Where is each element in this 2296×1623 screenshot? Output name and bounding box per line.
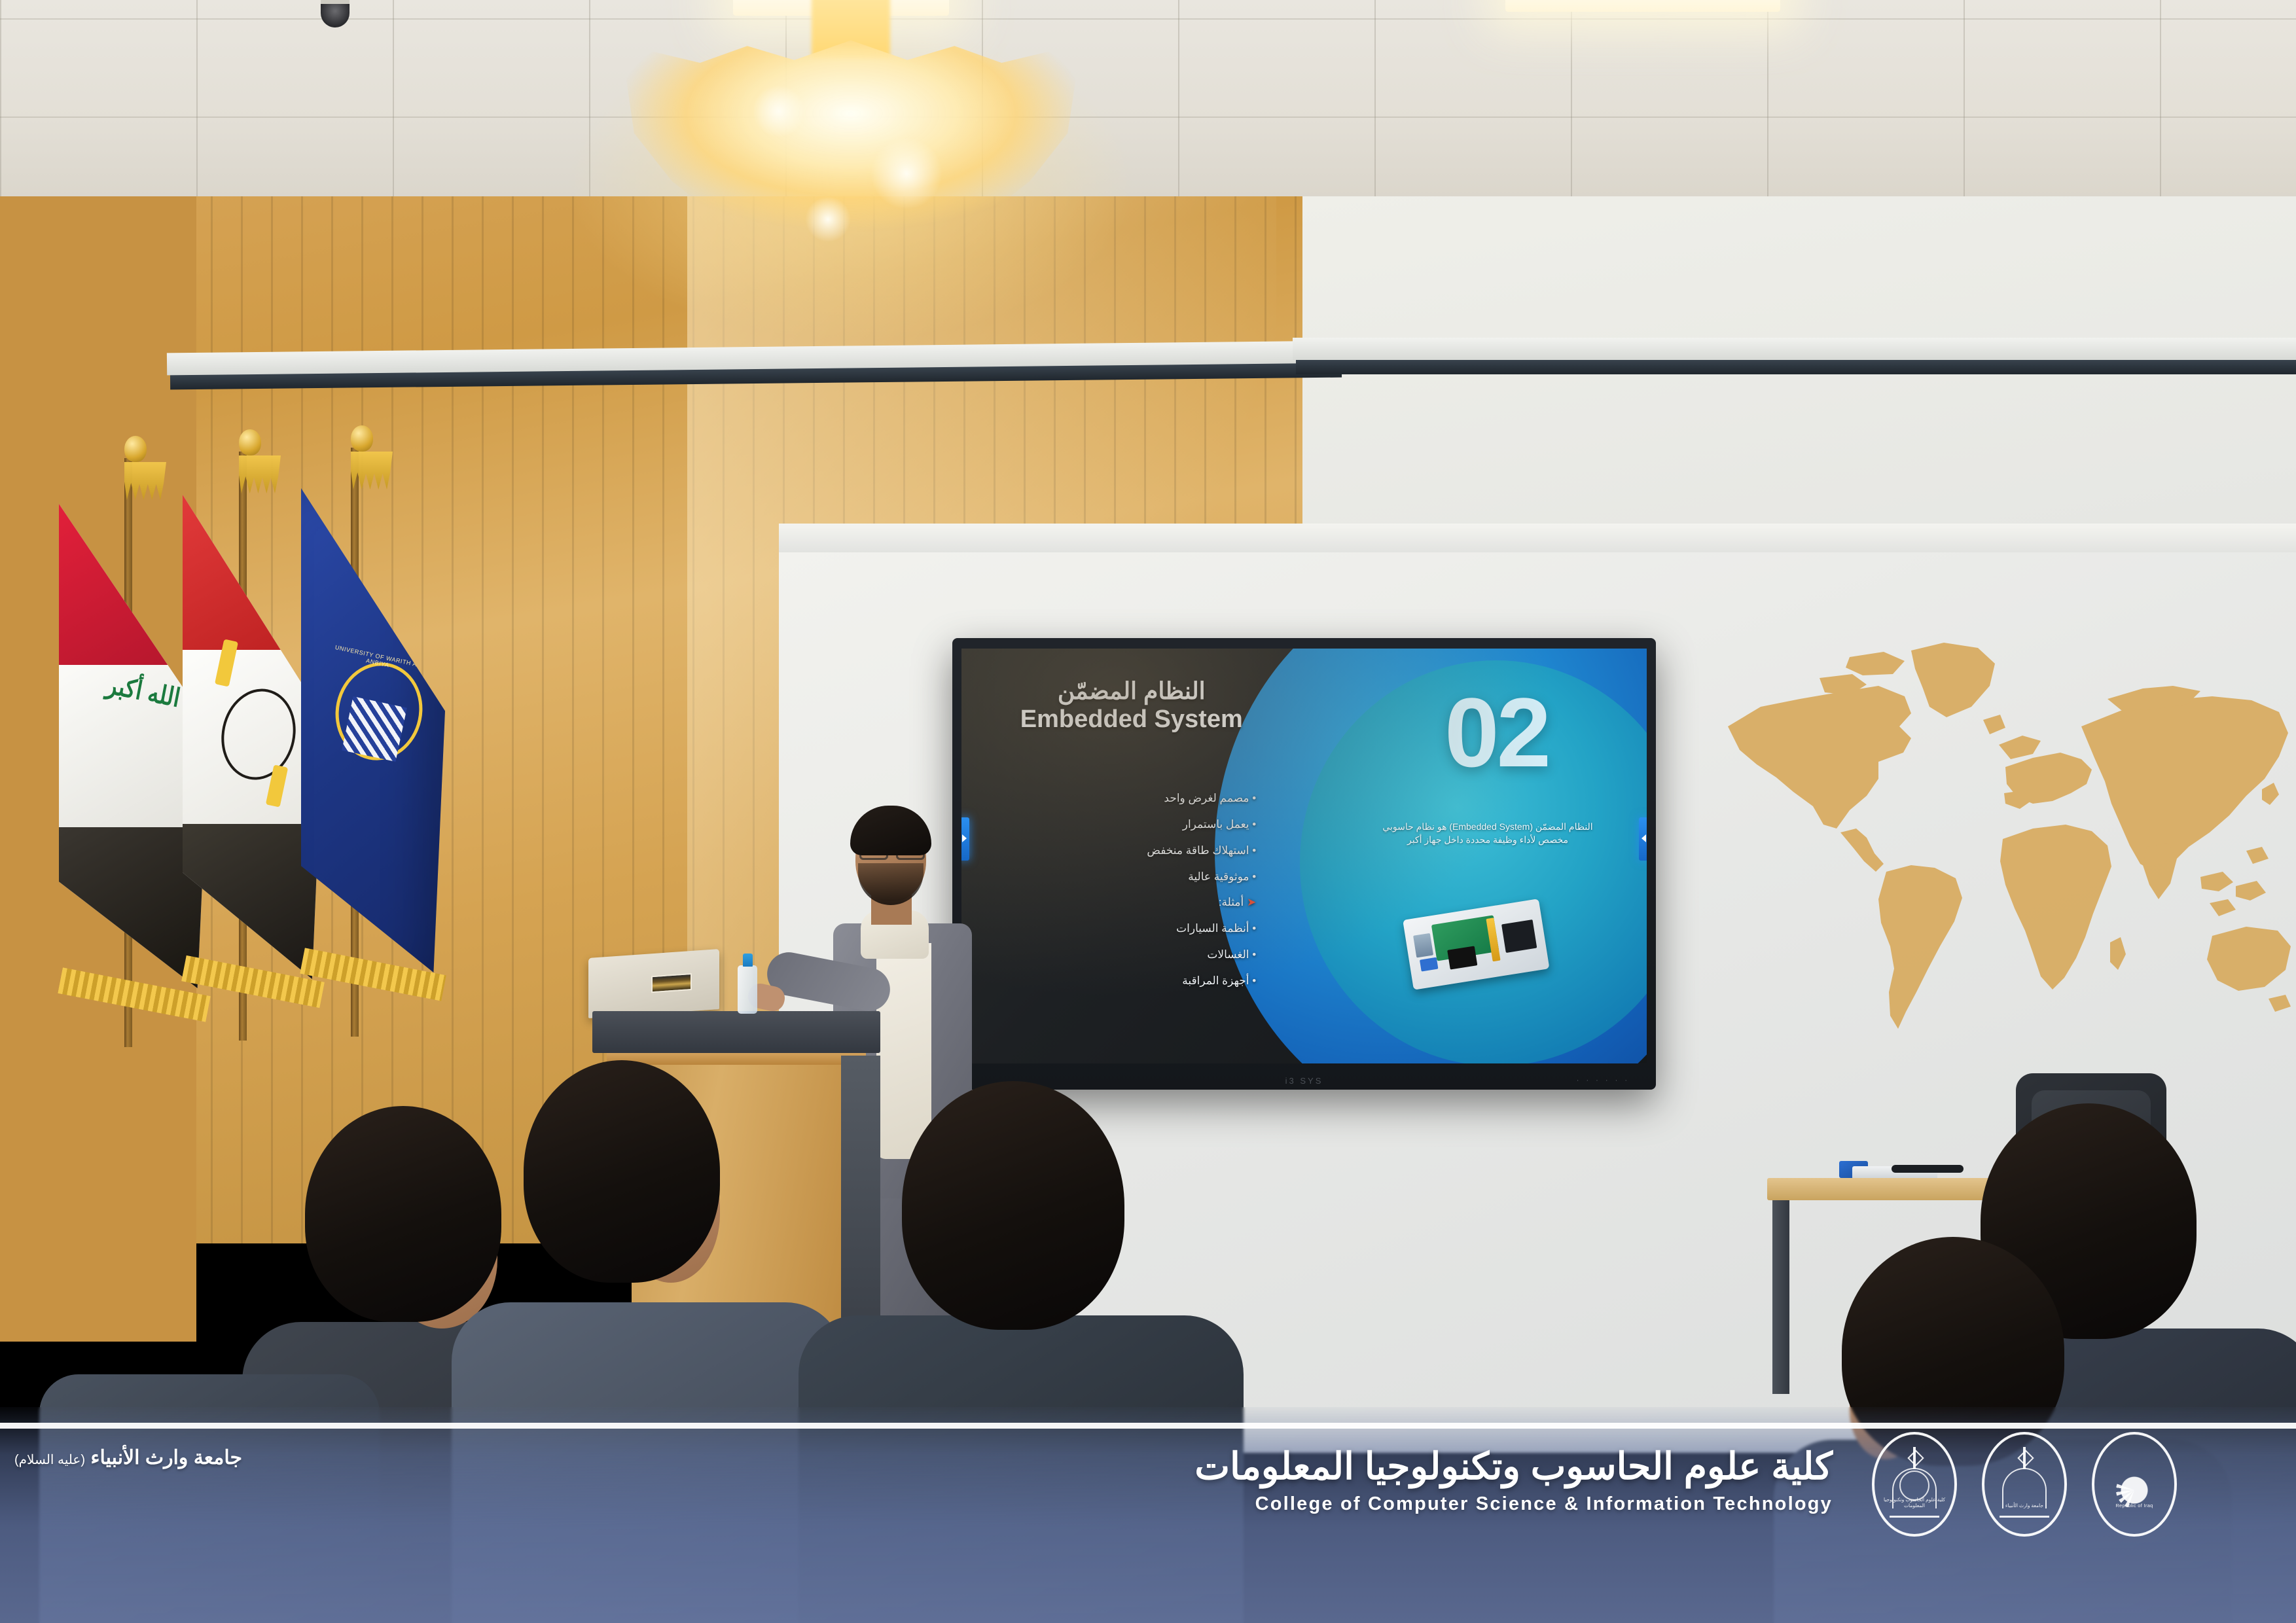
warith-al-anbiya-college-seal: كلية علوم الحاسوب وتكنولوجيا المعلومات: [1872, 1432, 1957, 1537]
seal-caption: كلية علوم الحاسوب وتكنولوجيا المعلومات: [1882, 1497, 1947, 1508]
seal-spire-icon: [2023, 1447, 2026, 1469]
slide-bullet: أنظمة السيارات: [1040, 923, 1256, 935]
flag-finial: [351, 425, 373, 452]
slide-title: النظام المضمّن Embedded System: [1014, 677, 1249, 734]
presentation-slide[interactable]: 02 النظام المضمّن (Embedded System) هو ن…: [961, 649, 1647, 1063]
pcb-module: [1501, 919, 1537, 953]
ceiling-light: [1505, 0, 1780, 12]
slide-title-english: Embedded System: [1014, 705, 1249, 734]
bottle-body: [738, 965, 757, 1014]
slide-bullet: يعمل باستمرار: [1040, 819, 1256, 830]
flag-finial: [239, 429, 261, 455]
wall-ledge: [779, 524, 2296, 552]
seal-spire-icon: [1913, 1447, 1916, 1469]
pcb-blue-part: [1420, 957, 1438, 972]
pcb-usb-port: [1413, 933, 1433, 958]
ceiling: [0, 0, 2296, 216]
flag-finial: [124, 436, 147, 462]
slide-bullet: موثوقية عالية: [1040, 871, 1256, 883]
desk-leg: [1772, 1200, 1789, 1394]
ceiling-tile-grid: [0, 0, 2296, 216]
slide-bullet: استهلاك طاقة منخفض: [1040, 845, 1256, 857]
pcb-chip: [1447, 946, 1477, 969]
laptop[interactable]: [588, 949, 719, 1018]
water-bottle: [738, 954, 757, 1014]
podium-nameplate: [651, 973, 692, 993]
seal-caption: Republic of Iraq: [2102, 1503, 2167, 1508]
slide-bullet: أمثلة:: [1040, 897, 1256, 908]
display-side-tab-right[interactable]: [1639, 817, 1647, 861]
university-seal-knot: [342, 696, 408, 762]
pcb-board: [1403, 899, 1549, 990]
slide-bullet: مصمم لغرض واحد: [1040, 793, 1256, 804]
college-banner: كلية علوم الحاسوب وتكنولوجيا المعلومات C…: [1100, 1446, 1833, 1515]
interactive-display[interactable]: 02 النظام المضمّن (Embedded System) هو ن…: [952, 638, 1656, 1090]
seal-graphic: كلية علوم الحاسوب وتكنولوجيا المعلومات: [1884, 1446, 1945, 1523]
slide-title-arabic: النظام المضمّن: [1014, 677, 1249, 704]
seal-graphic: جامعة وارث الأنبياء: [1994, 1446, 2054, 1523]
overlay-divider: [0, 1423, 2296, 1429]
seal-base-icon: [1890, 1516, 1939, 1518]
display-brand-label: i3 SYS: [1285, 1076, 1323, 1086]
seal-caption: جامعة وارث الأنبياء: [1992, 1503, 2057, 1508]
audience-head: [902, 1081, 1124, 1330]
audience-head: [524, 1060, 720, 1283]
left-university-label: جامعة وارث الأنبياء (عليه السلام): [14, 1446, 242, 1469]
slide-section-number: 02: [1444, 676, 1549, 789]
ministry-higher-education-seal: Republic of Iraq: [2092, 1432, 2177, 1537]
presenter-beard: [858, 863, 924, 905]
slide-bullet: أجهزة المراقبة: [1040, 975, 1256, 987]
slide-description: النظام المضمّن (Embedded System) هو نظام…: [1380, 820, 1596, 847]
slide-bullet-list: مصمم لغرض واحديعمل باستمراراستهلاك طاقة …: [1040, 793, 1256, 1001]
bottle-cap: [743, 954, 753, 967]
institution-logos: كلية علوم الحاسوب وتكنولوجيا المعلومات ج…: [1872, 1432, 2177, 1537]
seal-base-icon: [2000, 1516, 2049, 1518]
left-university-name: جامعة وارث الأنبياء: [90, 1447, 242, 1469]
warith-al-anbiya-university-seal: جامعة وارث الأنبياء: [1982, 1432, 2067, 1537]
flag-cloth: UNIVERSITY OF WARITH AL-ANBIYA: [301, 488, 445, 972]
left-university-honorific: (عليه السلام): [14, 1453, 85, 1467]
wall-molding-light: [1293, 338, 2296, 360]
flag-group: الله أكبر: [98, 452, 556, 1106]
college-name-english: College of Computer Science & Informatio…: [1100, 1493, 1833, 1515]
seal-graphic: Republic of Iraq: [2104, 1446, 2164, 1523]
display-bezel-controls: · · · · · ·: [1577, 1077, 1630, 1084]
presenter-hair: [850, 806, 931, 855]
college-name-arabic: كلية علوم الحاسوب وتكنولوجيا المعلومات: [1100, 1446, 1833, 1488]
ceiling-light: [733, 0, 949, 16]
slide-bullet: الغسالات: [1040, 949, 1256, 961]
audience-head: [305, 1106, 501, 1322]
screenshot-root: الله أكبر: [0, 0, 2296, 1623]
world-map-decal: [1715, 628, 2291, 1047]
